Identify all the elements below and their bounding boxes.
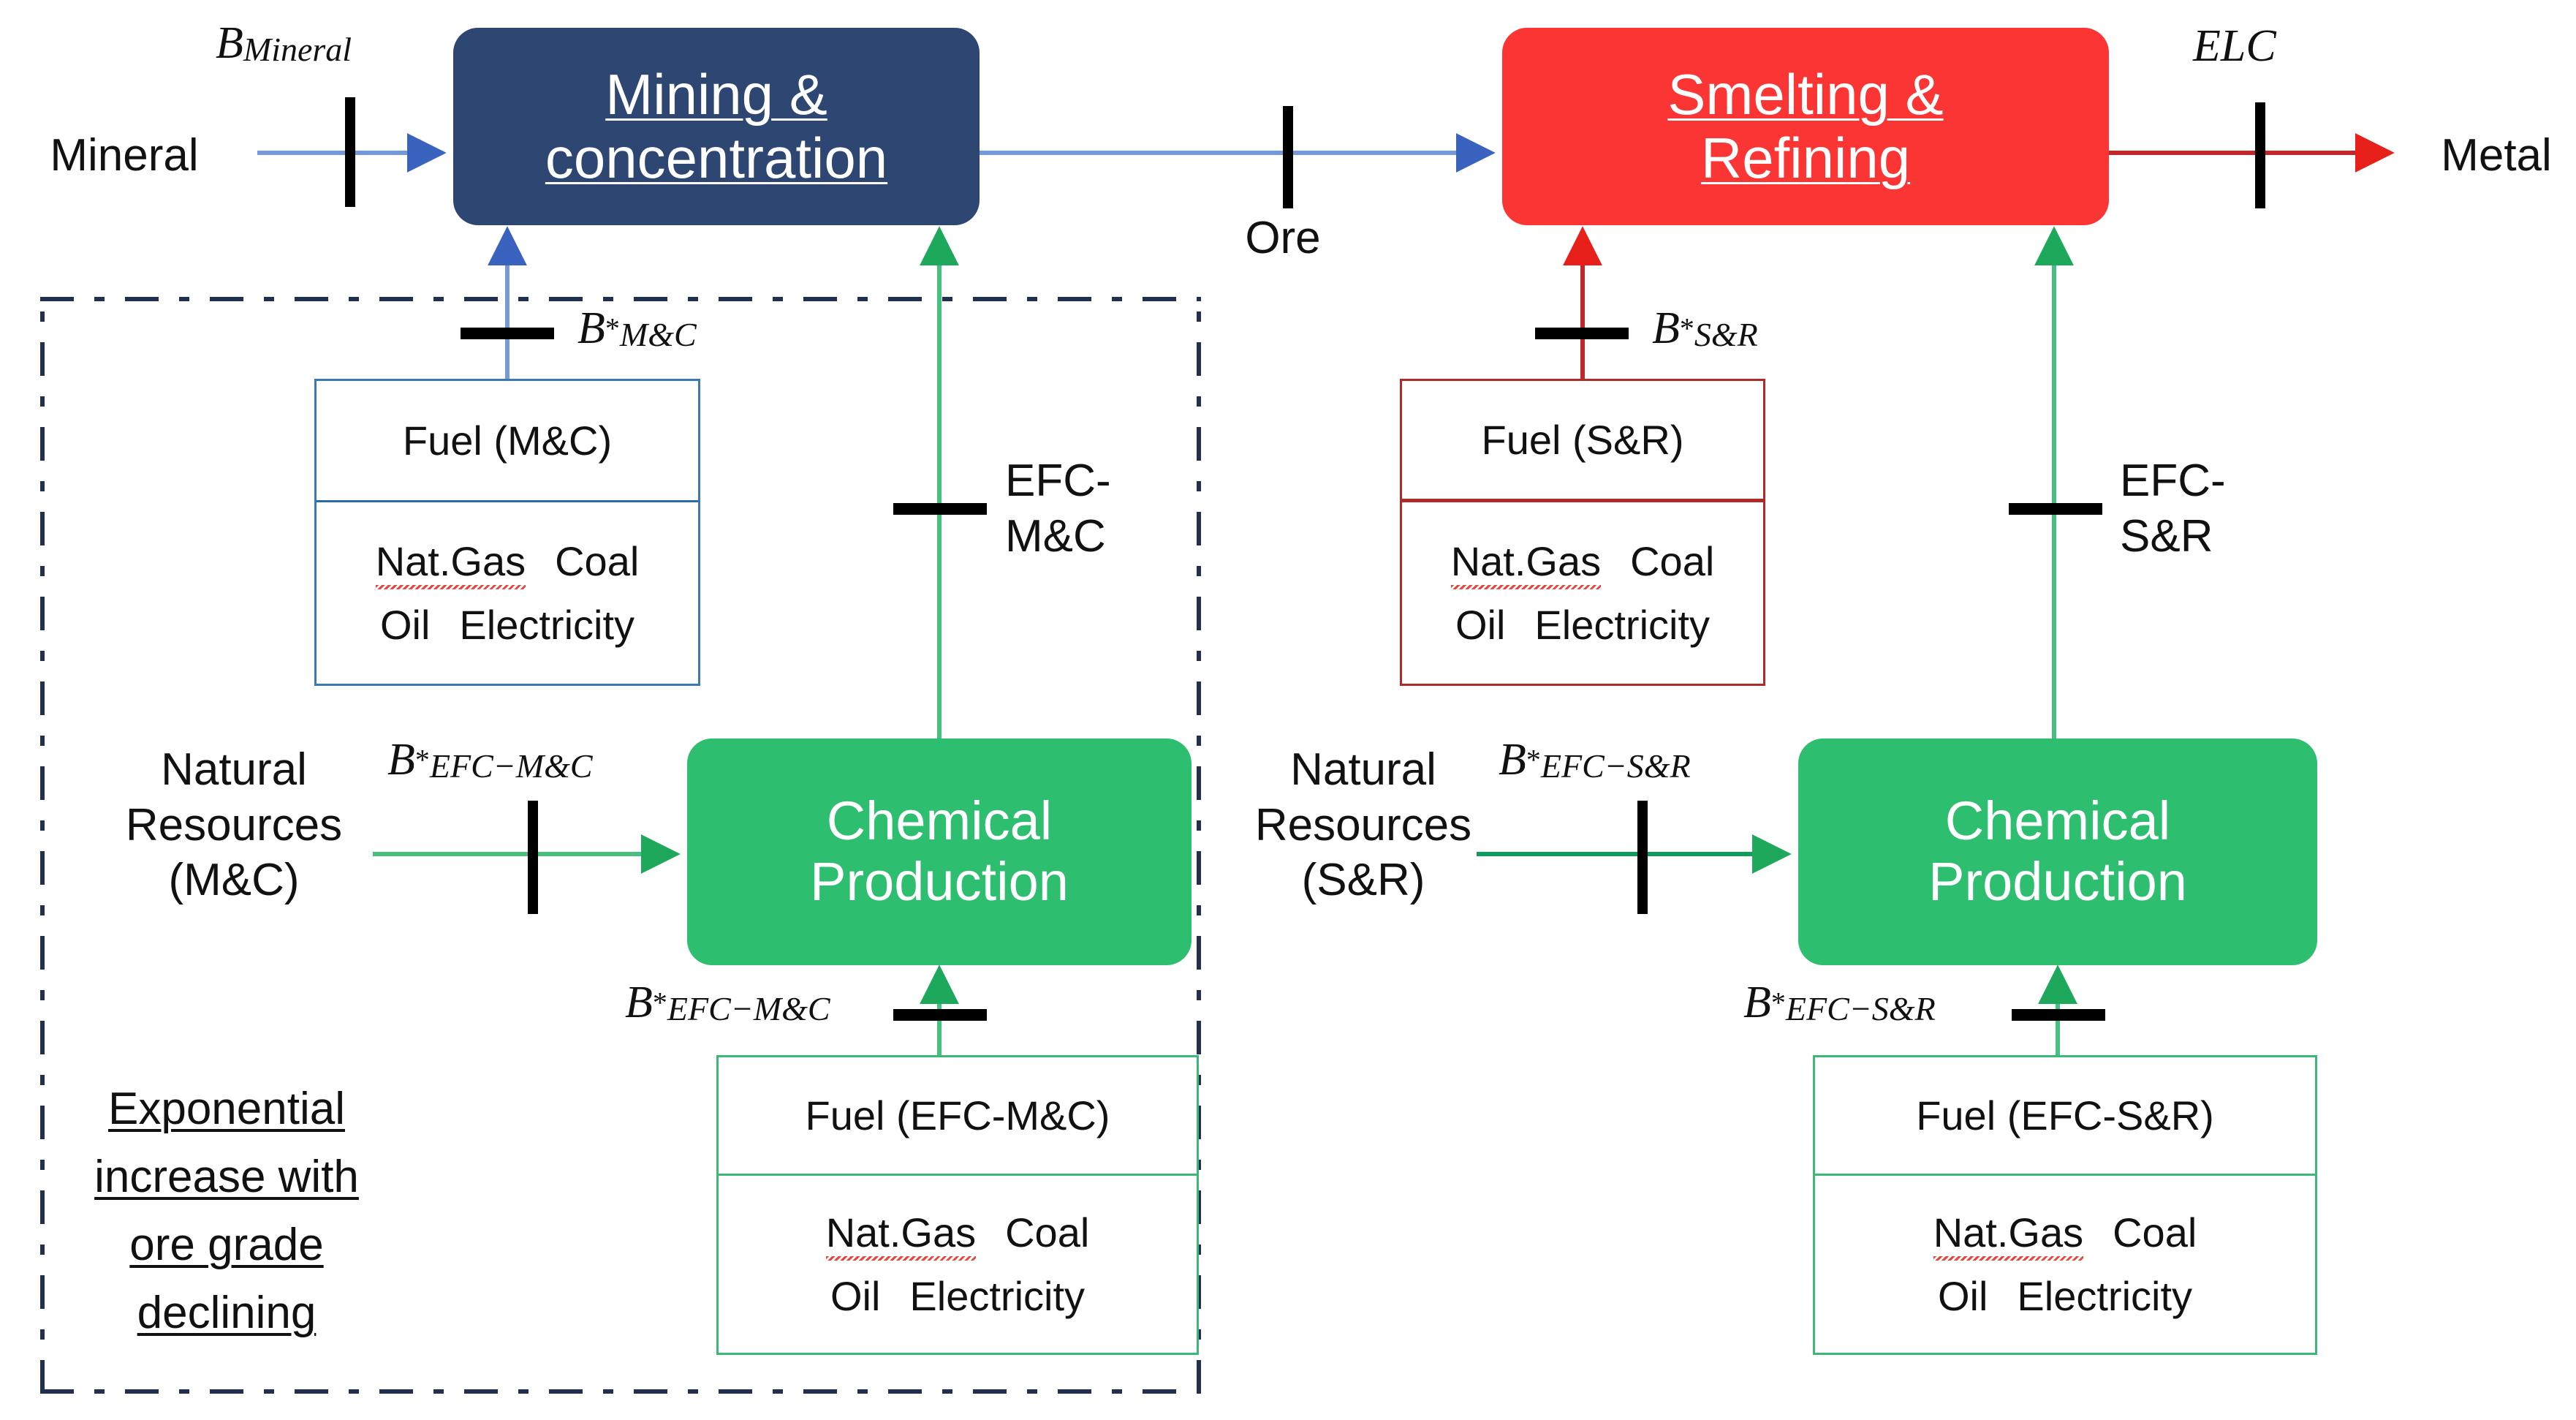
chem-right-line2: Production: [1928, 852, 2187, 913]
fuel-box-efc-sr-title: Fuel (EFC-S&R): [1815, 1057, 2315, 1176]
symbol-b-star-efc-mc-bottom: B*EFC−M&C: [625, 980, 830, 1026]
valve-bar-ore: [1283, 106, 1293, 208]
valve-bar-efc-mc: [893, 503, 987, 515]
fuel-sr-oil: Oil: [1455, 601, 1505, 649]
process-smelting-refining[interactable]: Smelting & Refining: [1502, 28, 2109, 225]
fuel-box-sr-title: Fuel (S&R): [1402, 381, 1763, 502]
fuel-box-efc-mc-body: Nat.Gas Coal Oil Electricity: [719, 1176, 1197, 1353]
smelting-line1: Smelting &: [1667, 63, 1943, 126]
symbol-elc: ELC: [2193, 23, 2276, 69]
note-line-4: declining: [137, 1288, 317, 1338]
process-mining-concentration[interactable]: Mining & concentration: [453, 28, 980, 225]
smelting-line2: Refining: [1701, 126, 1910, 190]
diagram-canvas: Mining & concentration Smelting & Refini…: [0, 0, 2576, 1420]
fuel-mc-oil: Oil: [380, 601, 430, 649]
note-line-1: Exponential: [108, 1084, 345, 1134]
symbol-b-mineral: BMineral: [216, 20, 352, 67]
annotation-exponential-increase: Exponential increase with ore grade decl…: [44, 1075, 409, 1347]
valve-bar-b-efc-mc-bottom: [893, 1009, 987, 1021]
symbol-b-star-efc-sr-bottom: B*EFC−S&R: [1743, 980, 1936, 1026]
process-chemical-production-sr[interactable]: Chemical Production: [1798, 739, 2317, 965]
fuel-sr-electricity: Electricity: [1534, 601, 1710, 649]
fuel-box-mc-body: Nat.Gas Coal Oil Electricity: [317, 502, 698, 684]
valve-bar-b-efc-sr-left: [1637, 801, 1648, 914]
fuel-mc-natgas: Nat.Gas: [376, 537, 526, 585]
fuel-efc-mc-electricity: Electricity: [909, 1272, 1085, 1320]
valve-bar-b-efc-mc-left: [528, 801, 538, 914]
fuel-efc-sr-oil: Oil: [1938, 1272, 1988, 1320]
fuel-box-sr-body: Nat.Gas Coal Oil Electricity: [1402, 502, 1763, 684]
fuel-box-efc-sr-body: Nat.Gas Coal Oil Electricity: [1815, 1176, 2315, 1353]
fuel-efc-mc-coal: Coal: [1005, 1209, 1089, 1256]
fuel-box-mc[interactable]: Fuel (M&C) Nat.Gas Coal Oil Electricity: [314, 379, 700, 686]
chem-left-line2: Production: [810, 852, 1069, 913]
fuel-efc-mc-natgas: Nat.Gas: [826, 1209, 976, 1256]
fuel-sr-coal: Coal: [1630, 537, 1714, 585]
valve-bar-efc-sr: [2009, 503, 2102, 515]
mining-line1: Mining &: [605, 63, 827, 126]
process-chemical-production-mc[interactable]: Chemical Production: [687, 739, 1192, 965]
symbol-b-star-sr: B*S&R: [1652, 306, 1758, 352]
symbol-b-star-mc: B*M&C: [577, 306, 697, 352]
note-line-3: ore grade: [129, 1220, 323, 1270]
fuel-mc-coal: Coal: [555, 537, 639, 585]
fuel-efc-sr-electricity: Electricity: [2017, 1272, 2192, 1320]
fuel-box-efc-mc-title: Fuel (EFC-M&C): [719, 1057, 1197, 1176]
fuel-box-efc-sr[interactable]: Fuel (EFC-S&R) Nat.Gas Coal Oil Electric…: [1813, 1055, 2317, 1355]
valve-bar-b-sr: [1535, 328, 1629, 339]
valve-bar-elc: [2255, 102, 2265, 208]
valve-bar-mineral: [345, 97, 355, 207]
mining-line2: concentration: [545, 126, 887, 190]
valve-bar-b-efc-sr-bottom: [2012, 1009, 2105, 1021]
label-natural-resources-mc: Natural Resources (M&C): [88, 742, 380, 908]
note-line-2: increase with: [94, 1152, 359, 1202]
label-ore: Ore: [1199, 211, 1367, 266]
fuel-box-mc-title: Fuel (M&C): [317, 381, 698, 502]
label-metal-output: Metal: [2412, 128, 2576, 184]
fuel-box-efc-mc[interactable]: Fuel (EFC-M&C) Nat.Gas Coal Oil Electric…: [716, 1055, 1199, 1355]
fuel-efc-sr-natgas: Nat.Gas: [1933, 1209, 2083, 1256]
valve-bar-b-mc: [461, 328, 554, 339]
fuel-mc-electricity: Electricity: [459, 601, 634, 649]
fuel-efc-sr-coal: Coal: [2113, 1209, 2197, 1256]
fuel-box-sr[interactable]: Fuel (S&R) Nat.Gas Coal Oil Electricity: [1400, 379, 1765, 686]
symbol-b-star-efc-mc-left: B*EFC−M&C: [387, 737, 593, 783]
label-efc-mc: EFC- M&C: [1005, 453, 1217, 564]
label-natural-resources-sr: Natural Resources (S&R): [1217, 742, 1509, 908]
label-mineral-input: Mineral: [7, 128, 241, 184]
chem-right-line1: Chemical: [1945, 791, 2170, 852]
fuel-efc-mc-oil: Oil: [830, 1272, 880, 1320]
label-efc-sr: EFC- S&R: [2120, 453, 2332, 564]
chem-left-line1: Chemical: [827, 791, 1052, 852]
fuel-sr-natgas: Nat.Gas: [1451, 537, 1601, 585]
symbol-b-star-efc-sr-left: B*EFC−S&R: [1499, 737, 1691, 783]
